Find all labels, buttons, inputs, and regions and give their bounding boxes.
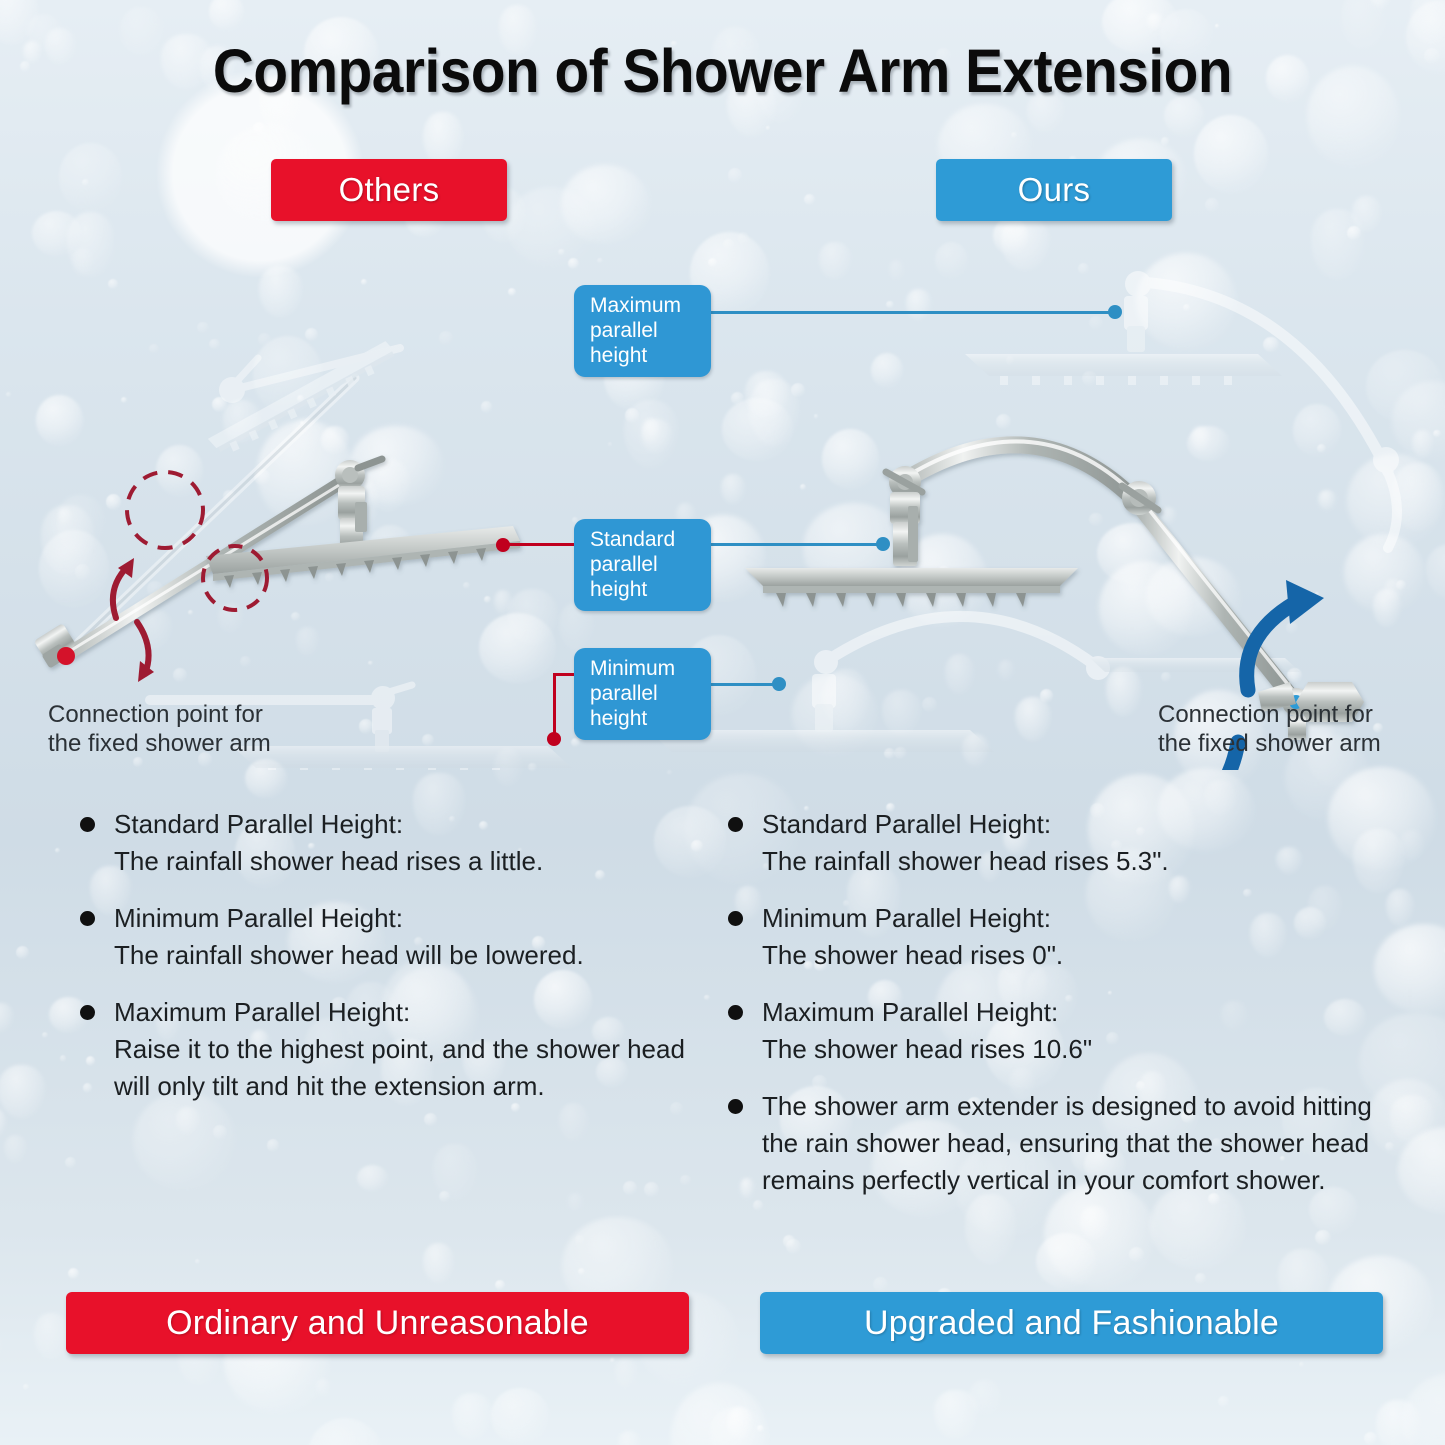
infographic-page: Comparison of Shower Arm Extension Other… xyxy=(0,0,1445,1445)
background-droplet xyxy=(1205,198,1219,212)
leader-line-maximum xyxy=(711,311,1115,314)
background-droplet xyxy=(644,1182,659,1197)
background-droplet xyxy=(34,1313,69,1359)
background-droplet xyxy=(667,770,672,775)
bullet-dot-icon xyxy=(728,1005,743,1020)
background-droplet xyxy=(82,179,89,186)
background-droplet xyxy=(578,1268,585,1275)
background-droplet xyxy=(1402,1373,1445,1445)
list-item-heading: Standard Parallel Height: xyxy=(114,806,710,843)
callout-maximum-line1: Maximum xyxy=(590,293,697,318)
background-droplet xyxy=(495,1280,505,1290)
background-droplet xyxy=(0,1003,13,1031)
bullet-dot-icon xyxy=(728,817,743,832)
leader-dot-maximum xyxy=(1108,305,1122,319)
background-droplet xyxy=(0,1109,6,1137)
background-droplet xyxy=(0,1065,45,1118)
background-droplet xyxy=(623,1181,637,1195)
leader-line-standard-blue xyxy=(711,543,883,546)
banner-others: Ordinary and Unreasonable xyxy=(66,1292,689,1354)
background-droplet xyxy=(23,41,41,63)
adjust-arrow-up-blue-head xyxy=(1286,580,1324,624)
callout-minimum-line1: Minimum xyxy=(590,656,697,681)
leader-line-minimum-red-v xyxy=(553,673,556,739)
background-droplet xyxy=(1424,48,1440,64)
badge-others-label: Others xyxy=(339,171,440,209)
badge-ours-label: Ours xyxy=(1018,171,1091,209)
background-droplet xyxy=(452,1393,492,1439)
background-droplet xyxy=(55,848,60,853)
background-droplet xyxy=(1194,115,1268,194)
list-item-heading: Minimum Parallel Height: xyxy=(762,900,1398,937)
background-droplet xyxy=(357,1165,388,1191)
background-droplet xyxy=(1218,1396,1230,1408)
background-droplet xyxy=(615,1358,637,1389)
leader-dot-standard-red xyxy=(496,538,510,552)
background-droplet xyxy=(20,61,30,71)
background-droplet xyxy=(1036,1233,1096,1289)
banner-ours: Upgraded and Fashionable xyxy=(760,1292,1383,1354)
background-droplet xyxy=(1376,1400,1421,1445)
background-droplet xyxy=(491,1388,548,1443)
badge-others: Others xyxy=(271,159,507,221)
background-droplet xyxy=(213,1125,227,1139)
badge-ours: Ours xyxy=(936,159,1172,221)
background-droplet xyxy=(1400,830,1424,860)
bullets-column-ours: Standard Parallel Height:The rainfall sh… xyxy=(718,806,1398,1219)
background-droplet xyxy=(1410,0,1445,45)
list-item-body: Raise it to the highest point, and the s… xyxy=(114,1031,710,1105)
list-item-heading: Maximum Parallel Height: xyxy=(114,994,710,1031)
background-droplet xyxy=(1011,132,1017,138)
list-item-heading: Maximum Parallel Height: xyxy=(762,994,1398,1031)
background-droplet xyxy=(1406,0,1445,73)
background-droplet xyxy=(804,194,815,205)
list-item-heading: Minimum Parallel Height: xyxy=(114,900,710,937)
background-droplet xyxy=(439,1191,449,1201)
bullet-dot-icon xyxy=(728,911,743,926)
callout-minimum-parallel-height: Minimum parallel height xyxy=(574,648,711,740)
background-droplet xyxy=(1215,24,1220,29)
list-item-body: The rainfall shower head rises a little. xyxy=(114,843,710,880)
background-droplet xyxy=(757,1425,765,1433)
background-droplet xyxy=(934,1390,978,1438)
leader-dot-minimum-blue xyxy=(772,677,786,691)
list-item-body: The shower head rises 10.6" xyxy=(762,1031,1398,1068)
callout-standard-parallel-height: Standard parallel height xyxy=(574,519,711,611)
background-droplet xyxy=(786,1239,801,1254)
callout-standard-line1: Standard xyxy=(590,527,697,552)
problem-highlight-circle-upper xyxy=(127,472,203,548)
others-connection-point xyxy=(57,647,75,665)
background-droplet xyxy=(766,126,770,130)
background-droplet xyxy=(1195,1273,1206,1284)
background-droplet xyxy=(1315,1230,1330,1245)
callout-minimum-line2: parallel height xyxy=(590,681,697,731)
leader-dot-minimum-red xyxy=(547,732,561,746)
background-droplet xyxy=(671,1383,769,1445)
leader-dot-standard-blue xyxy=(876,537,890,551)
background-droplet xyxy=(680,1175,691,1186)
background-droplet xyxy=(195,1259,201,1265)
background-droplet xyxy=(1352,196,1381,232)
list-item-body: The rainfall shower head will be lowered… xyxy=(114,937,710,974)
list-item: Maximum Parallel Height:The shower head … xyxy=(718,994,1398,1068)
list-item: The shower arm extender is designed to a… xyxy=(718,1088,1398,1199)
background-droplet xyxy=(316,1379,332,1396)
background-droplet xyxy=(727,1407,752,1439)
list-item: Standard Parallel Height:The rainfall sh… xyxy=(70,806,710,880)
list-item-body: The shower head rises 0". xyxy=(762,937,1398,974)
page-title: Comparison of Shower Arm Extension xyxy=(51,36,1395,106)
list-item: Minimum Parallel Height:The rainfall sho… xyxy=(70,900,710,974)
background-droplet xyxy=(308,1418,382,1445)
background-droplet xyxy=(575,1235,585,1245)
background-droplet xyxy=(1299,1362,1304,1367)
leader-line-standard-red xyxy=(505,543,575,546)
callout-maximum-line2: parallel height xyxy=(590,318,697,368)
background-droplet xyxy=(68,1268,79,1279)
background-droplet xyxy=(873,1277,888,1292)
background-droplet xyxy=(23,1384,29,1390)
background-droplet xyxy=(59,143,123,211)
background-droplet xyxy=(433,1144,477,1198)
background-droplet xyxy=(0,1336,1,1357)
bullet-dot-icon xyxy=(80,1005,95,1020)
bullets-column-others: Standard Parallel Height:The rainfall sh… xyxy=(70,806,710,1125)
bullet-dot-icon xyxy=(80,817,95,832)
list-item: Maximum Parallel Height:Raise it to the … xyxy=(70,994,710,1105)
list-item: Standard Parallel Height:The rainfall sh… xyxy=(718,806,1398,880)
background-droplet xyxy=(969,1380,1001,1414)
bullet-dot-icon xyxy=(80,911,95,926)
background-droplet xyxy=(16,946,29,959)
background-droplet xyxy=(783,1235,795,1247)
background-droplet xyxy=(1147,13,1163,31)
background-droplet xyxy=(1364,1432,1377,1445)
banner-others-label: Ordinary and Unreasonable xyxy=(166,1304,589,1343)
ours-shower-head xyxy=(745,568,1078,607)
background-droplet xyxy=(4,1135,27,1164)
callout-standard-line2: parallel height xyxy=(590,552,697,602)
background-droplet xyxy=(1370,0,1391,8)
callout-maximum-parallel-height: Maximum parallel height xyxy=(574,285,711,377)
background-droplet xyxy=(60,1055,67,1062)
ours-diagram xyxy=(648,271,1399,770)
background-droplet xyxy=(728,168,743,183)
list-item: Minimum Parallel Height:The shower head … xyxy=(718,900,1398,974)
banner-ours-label: Upgraded and Fashionable xyxy=(864,1304,1279,1343)
background-droplet xyxy=(253,122,265,134)
background-droplet xyxy=(568,1193,583,1211)
list-item-body: The shower arm extender is designed to a… xyxy=(762,1088,1398,1199)
connection-caption-left: Connection point for the fixed shower ar… xyxy=(48,700,271,758)
background-droplet xyxy=(618,1431,640,1445)
list-item-heading: Standard Parallel Height: xyxy=(762,806,1398,843)
background-droplet xyxy=(610,1358,615,1363)
background-droplet xyxy=(209,0,244,30)
connection-caption-right: Connection point for the fixed shower ar… xyxy=(1158,700,1381,758)
background-droplet xyxy=(1161,137,1170,146)
background-droplet xyxy=(1129,1247,1144,1262)
background-droplet xyxy=(42,1032,49,1039)
background-droplet xyxy=(65,1157,76,1168)
leader-line-minimum-blue xyxy=(711,683,779,686)
background-droplet xyxy=(0,0,38,44)
background-droplet xyxy=(1398,1127,1445,1214)
background-droplet xyxy=(267,1139,280,1152)
bullet-dot-icon xyxy=(728,1099,743,1114)
background-droplet xyxy=(423,1243,453,1283)
background-droplet xyxy=(710,1407,762,1445)
list-item-body: The rainfall shower head rises 5.3". xyxy=(762,843,1398,880)
